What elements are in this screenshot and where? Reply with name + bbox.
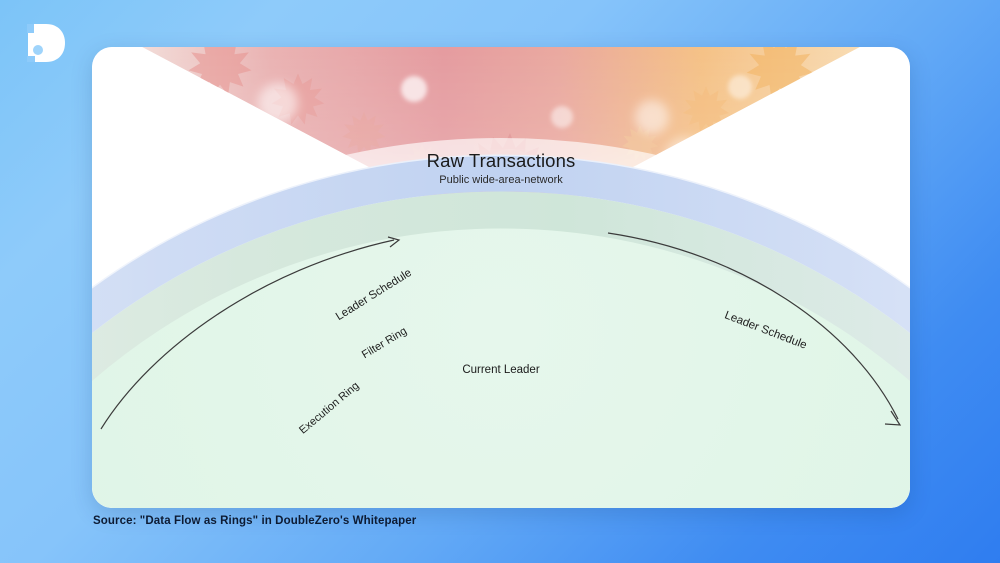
doublezero-d-logo-icon	[22, 20, 68, 66]
screenshot-root: Raw Transactions Public wide-area-networ…	[0, 0, 1000, 563]
diagram-card: Raw Transactions Public wide-area-networ…	[92, 47, 910, 508]
source-caption: Source: "Data Flow as Rings" in DoubleZe…	[93, 515, 416, 527]
current-leader-label: Current Leader	[92, 364, 910, 376]
data-flow-rings-diagram	[92, 47, 910, 508]
